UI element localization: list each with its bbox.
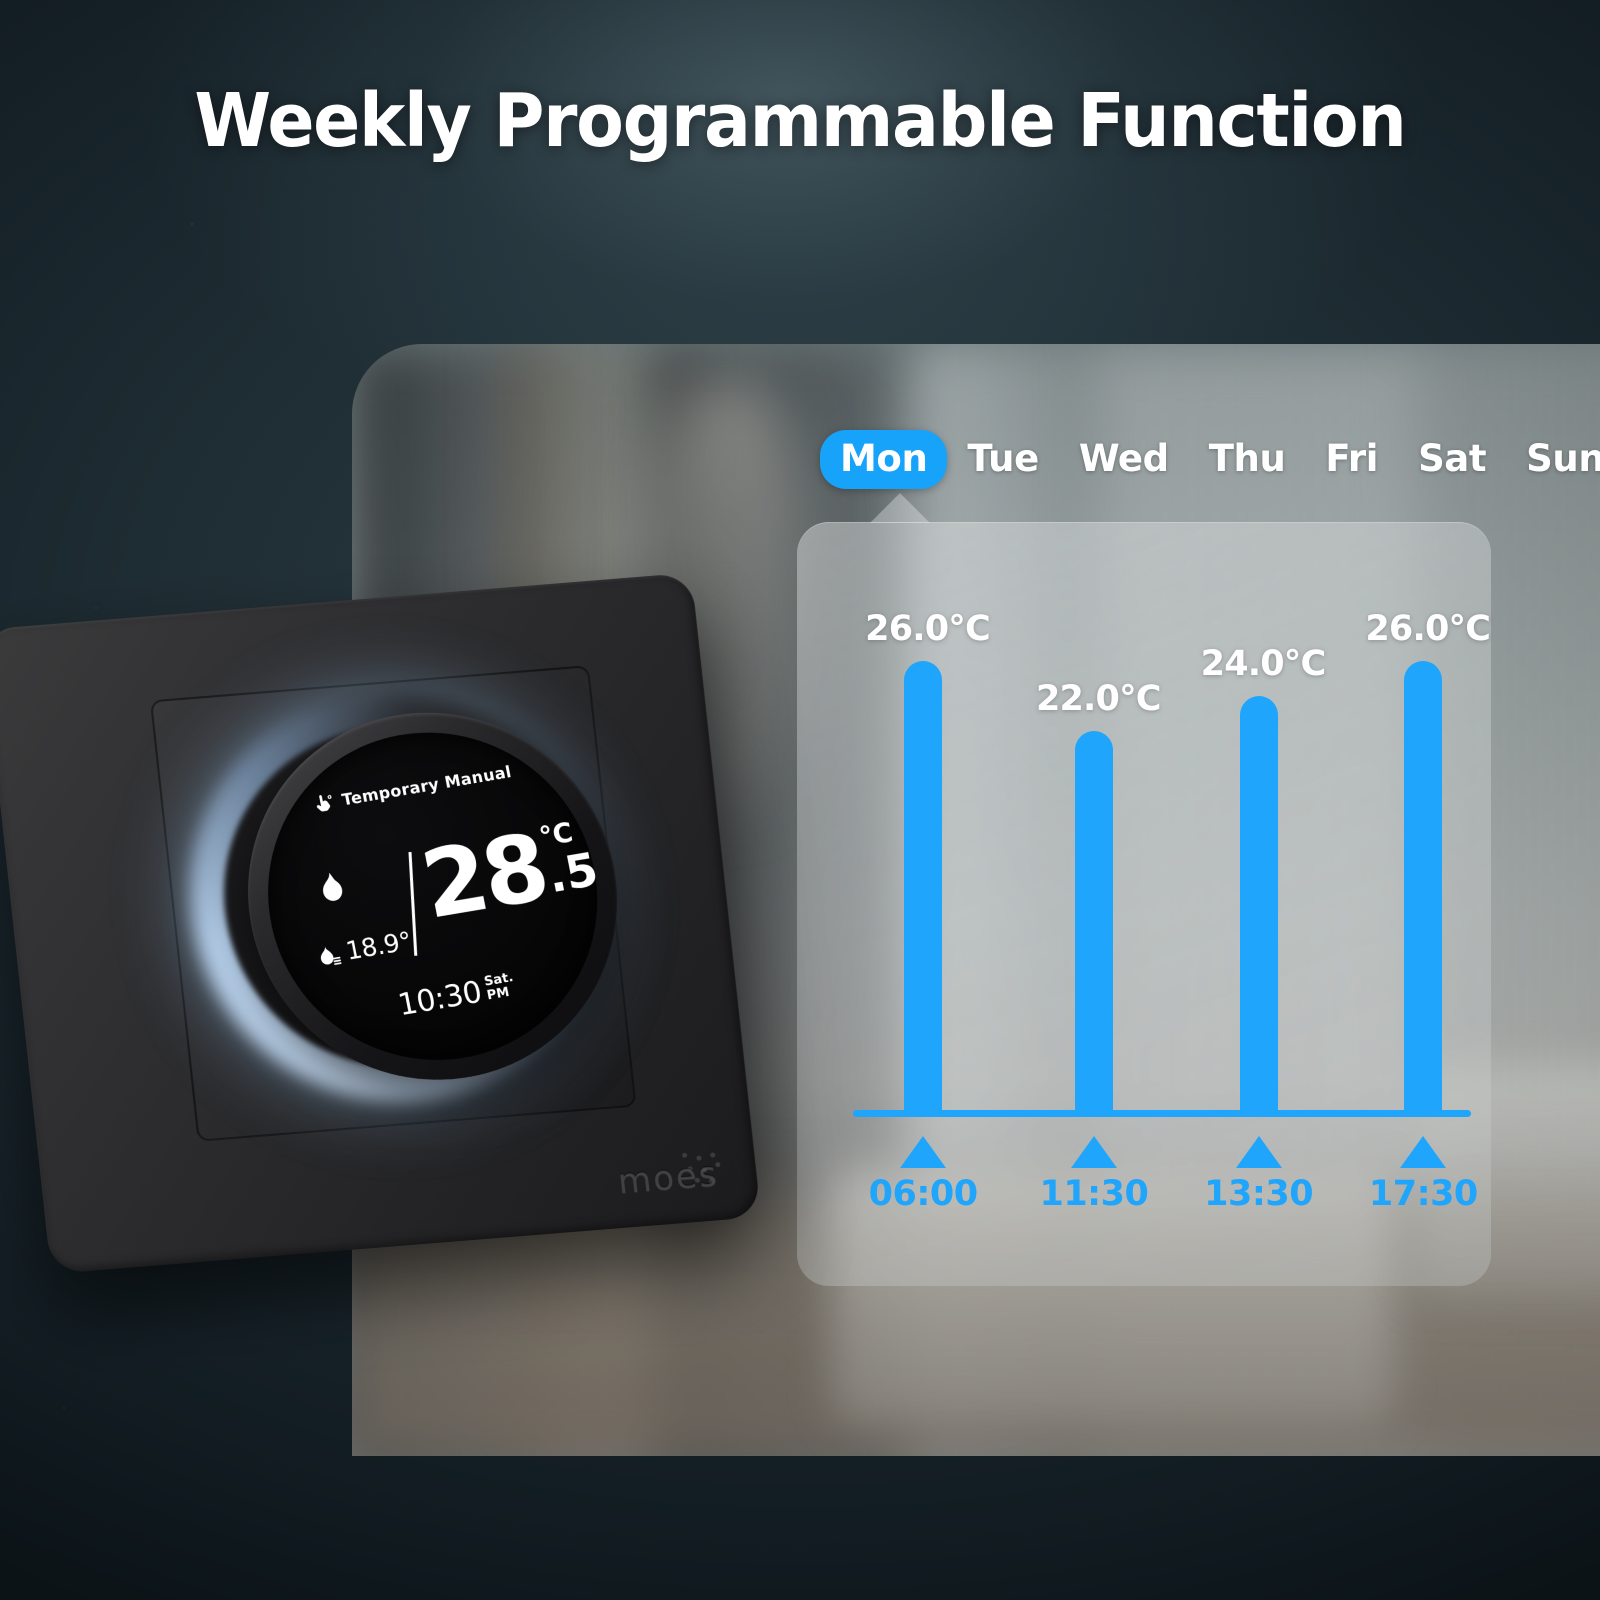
set-temp-decimal: .5 bbox=[544, 849, 601, 898]
schedule-card: 26.0°C22.0°C24.0°C26.0°C 06:0011:3013:30… bbox=[797, 522, 1491, 1286]
bar-group[interactable] bbox=[904, 592, 942, 1112]
bar-value-label: 26.0°C bbox=[865, 609, 990, 649]
day-tab-thu[interactable]: Thu bbox=[1189, 430, 1306, 489]
flame-icon bbox=[316, 870, 348, 908]
clock-meta: Sat. PM bbox=[483, 971, 517, 1003]
x-axis-tick[interactable]: 17:30 bbox=[1363, 1122, 1483, 1214]
day-tab-strip: Mon Tue Wed Thu Fri Sat Sun bbox=[820, 430, 1600, 489]
day-tab-wed[interactable]: Wed bbox=[1059, 430, 1189, 489]
day-tab-tue[interactable]: Tue bbox=[947, 430, 1058, 489]
day-tab-fri[interactable]: Fri bbox=[1305, 430, 1398, 489]
clock-time: 10:30 bbox=[395, 975, 484, 1023]
chart-baseline bbox=[853, 1110, 1471, 1117]
day-tab-sun[interactable]: Sun bbox=[1506, 430, 1600, 489]
x-axis-tick[interactable]: 11:30 bbox=[1034, 1122, 1154, 1214]
bar-value-label: 22.0°C bbox=[1036, 679, 1161, 719]
tick-label: 17:30 bbox=[1363, 1174, 1483, 1214]
tick-label: 06:00 bbox=[863, 1174, 983, 1214]
tick-marker-icon bbox=[1071, 1136, 1117, 1168]
clock-ampm: PM bbox=[486, 984, 517, 1002]
tick-label: 11:30 bbox=[1034, 1174, 1154, 1214]
bar-value-label: 26.0°C bbox=[1365, 609, 1490, 649]
floor-temp-row: 18.9° bbox=[314, 926, 414, 970]
tick-label: 13:30 bbox=[1199, 1174, 1319, 1214]
set-temp-integer: 28 bbox=[416, 827, 551, 928]
floor-temp-value: 18.9° bbox=[343, 926, 413, 965]
thermostat-device: moes Temporary Manual bbox=[0, 570, 795, 1325]
tick-marker-icon bbox=[900, 1136, 946, 1168]
chart-bar[interactable] bbox=[1240, 696, 1278, 1112]
schedule-bar-chart: 26.0°C22.0°C24.0°C26.0°C 06:0011:3013:30… bbox=[797, 522, 1491, 1286]
chart-bar[interactable] bbox=[904, 661, 942, 1112]
thermostat-screen: Temporary Manual 18.9° 28 °C bbox=[251, 720, 613, 1072]
bar-group[interactable] bbox=[1075, 592, 1113, 1112]
bar-value-label: 24.0°C bbox=[1201, 644, 1326, 684]
floor-heat-icon bbox=[315, 943, 343, 971]
clock-row: 10:30 Sat. PM bbox=[395, 969, 518, 1023]
mode-label: Temporary Manual bbox=[340, 762, 513, 809]
chart-bar[interactable] bbox=[1404, 661, 1442, 1112]
card-caret bbox=[870, 493, 930, 523]
x-axis-tick[interactable]: 06:00 bbox=[863, 1122, 983, 1214]
set-temperature: 28 °C .5 bbox=[416, 818, 603, 927]
page-title: Weekly Programmable Function bbox=[48, 78, 1552, 164]
poster-root: Weekly Programmable Function Mon Tue Wed… bbox=[0, 0, 1600, 1600]
mode-row: Temporary Manual bbox=[312, 761, 513, 814]
day-tab-mon[interactable]: Mon bbox=[820, 430, 947, 489]
hand-touch-icon bbox=[312, 791, 336, 814]
chart-bar[interactable] bbox=[1075, 731, 1113, 1112]
x-axis-tick[interactable]: 13:30 bbox=[1199, 1122, 1319, 1214]
tick-marker-icon bbox=[1400, 1136, 1446, 1168]
chart-plot-area: 26.0°C22.0°C24.0°C26.0°C bbox=[853, 592, 1463, 1112]
brand-logo: moes bbox=[616, 1154, 721, 1202]
day-tab-sat[interactable]: Sat bbox=[1398, 430, 1506, 489]
bar-group[interactable] bbox=[1404, 592, 1442, 1112]
chart-x-axis: 06:0011:3013:3017:30 bbox=[853, 1122, 1471, 1232]
tick-marker-icon bbox=[1236, 1136, 1282, 1168]
